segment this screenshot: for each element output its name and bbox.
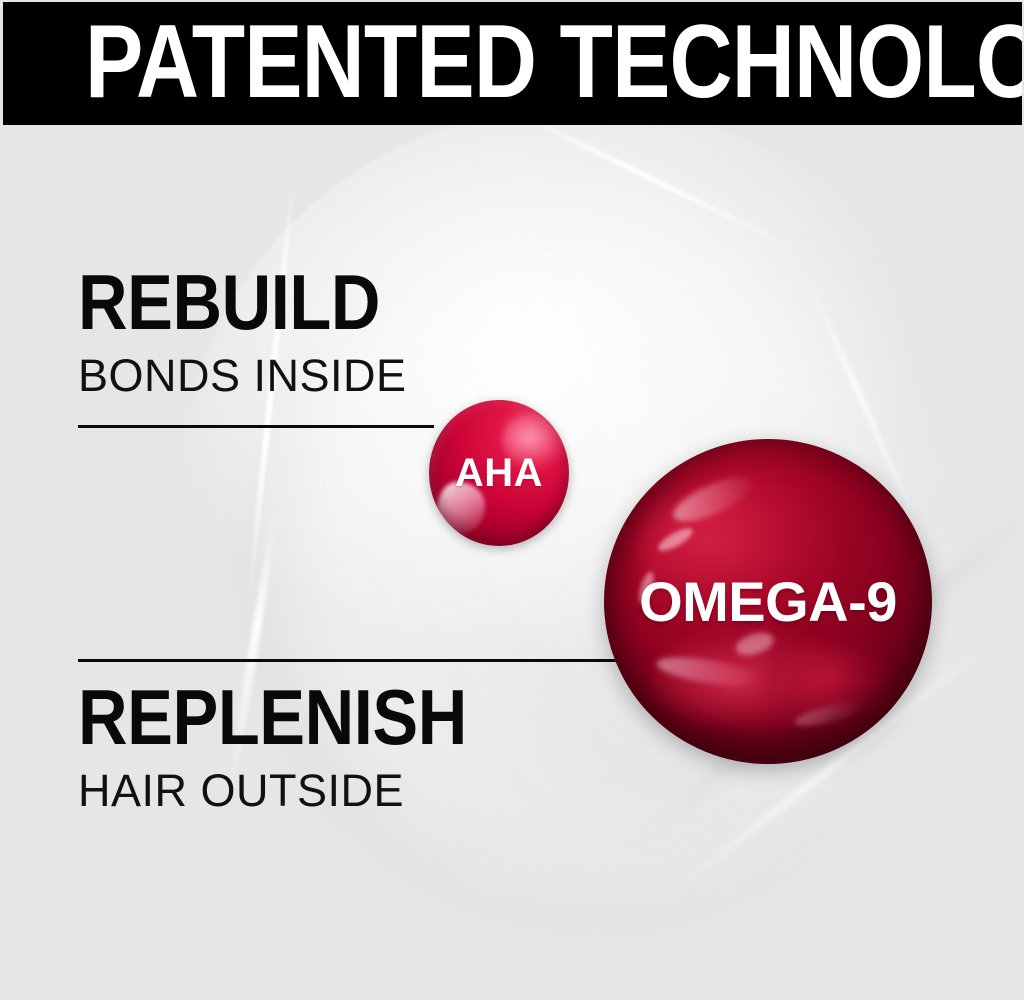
connector-rule-rebuild (78, 425, 434, 428)
connector-rule-replenish (78, 659, 640, 662)
bubble-label: OMEGA-9 (639, 574, 897, 630)
feature-block-replenish: REPLENISH HAIR OUTSIDE (78, 680, 520, 813)
main-stage: REBUILD BONDS INSIDE REPLENISH HAIR OUTS… (0, 125, 1024, 1000)
header-bar: PATENTED TECHNOLOGY (3, 2, 1022, 125)
bubble-label: AHA (455, 453, 543, 493)
feature-block-rebuild: REBUILD BONDS INSIDE (78, 265, 421, 398)
ingredient-bubble-aha: AHA (429, 400, 569, 546)
feature-headline: REBUILD (78, 265, 380, 339)
feature-subline: HAIR OUTSIDE (78, 768, 520, 813)
ingredient-bubble-omega9: OMEGA-9 (604, 439, 932, 764)
infographic-canvas: PATENTED TECHNOLOGY REBUILD BONDS INSIDE… (0, 0, 1024, 1000)
page-title: PATENTED TECHNOLOGY (85, 9, 1022, 113)
feature-subline: BONDS INSIDE (78, 353, 421, 398)
feature-headline: REPLENISH (78, 680, 467, 754)
